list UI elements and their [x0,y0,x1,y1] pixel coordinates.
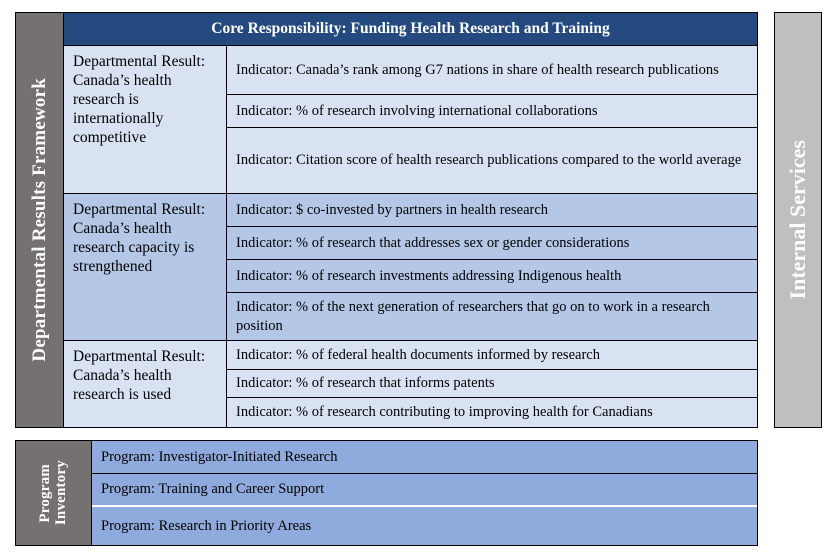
program-list: Program: Investigator-Initiated Research… [92,440,758,546]
result-group: Departmental Result: Canada’s health res… [64,194,757,341]
internal-services-panel: Internal Services [774,12,822,428]
core-responsibility-title: Core Responsibility: Funding Health Rese… [211,20,609,38]
program-inventory-label-line1: Program [38,464,54,523]
program-row: Program: Investigator-Initiated Research [92,441,757,474]
departmental-result-cell: Departmental Result: Canada’s health res… [64,46,227,193]
drf-side-label-text: Departmental Results Framework [30,78,50,362]
departmental-results-framework: Departmental Results Framework Core Resp… [15,12,758,428]
indicator-row: Indicator: % of research involving inter… [227,95,757,128]
indicator-row: Indicator: % of the next generation of r… [227,293,757,340]
departmental-result-cell: Departmental Result: Canada’s health res… [64,341,227,427]
indicator-row: Indicator: Canada’s rank among G7 nation… [227,46,757,95]
indicator-list: Indicator: Canada’s rank among G7 nation… [227,46,757,193]
result-group: Departmental Result: Canada’s health res… [64,341,757,427]
indicator-row: Indicator: $ co-invested by partners in … [227,194,757,227]
departmental-result-text: Departmental Result: Canada’s health res… [73,53,205,146]
core-responsibility-header: Core Responsibility: Funding Health Rese… [64,13,757,46]
departmental-result-text: Departmental Result: Canada’s health res… [73,348,205,403]
drf-side-label: Departmental Results Framework [15,12,64,428]
indicator-row: Indicator: % of research that addresses … [227,227,757,260]
internal-services-label: Internal Services [785,140,811,299]
indicator-list: Indicator: % of federal health documents… [227,341,757,427]
drf-table: Core Responsibility: Funding Health Rese… [64,12,758,428]
indicator-list: Indicator: $ co-invested by partners in … [227,194,757,340]
program-inventory: Program Inventory Program: Investigator-… [15,440,758,546]
indicator-row: Indicator: % of federal health documents… [227,341,757,370]
departmental-result-text: Departmental Result: Canada’s health res… [73,201,205,275]
program-row: Program: Research in Priority Areas [92,507,757,545]
indicator-row: Indicator: % of research investments add… [227,260,757,293]
program-inventory-side-label: Program Inventory [15,440,92,546]
program-row: Program: Training and Career Support [92,474,757,507]
indicator-row: Indicator: % of research contributing to… [227,398,757,426]
program-inventory-label-line2: Inventory [54,460,70,525]
indicator-row: Indicator: % of research that informs pa… [227,370,757,398]
indicator-row: Indicator: Citation score of health rese… [227,128,757,193]
result-group: Departmental Result: Canada’s health res… [64,46,757,194]
departmental-result-cell: Departmental Result: Canada’s health res… [64,194,227,340]
